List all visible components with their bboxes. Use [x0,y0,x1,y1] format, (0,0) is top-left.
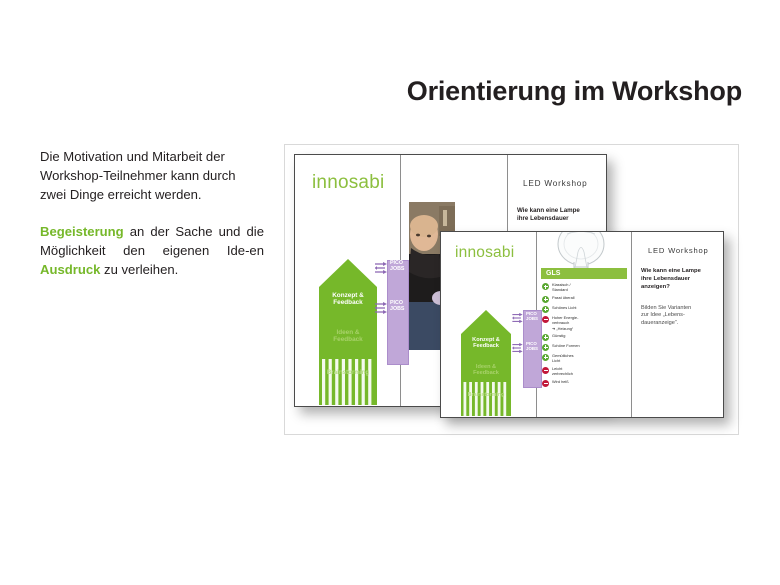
plus-icon [542,334,549,341]
minus-icon [542,316,549,323]
panel-title-front: LED Workshop [648,246,709,255]
brand-innosabi-back: innosabi [312,172,384,194]
flow-arrows-lower-back [375,301,387,315]
list-item: Leicht zerbrechlich [542,366,628,377]
slide-front-divider-2 [631,232,632,417]
list-item-label: Schönes Licht [552,305,576,310]
panel-task-front: Bilden Sie Varianten zur Idee „Lebens- d… [641,305,719,327]
intro-segment-2: zu verleihen. [100,262,178,277]
process-arrow-front: Konzept & Feedback Ideen & Feedback Brai… [461,310,511,416]
list-item: Günstig [542,333,628,341]
list-item-label: Klassisch / Standard [552,282,571,293]
list-item-label: Günstig [552,333,565,338]
plus-icon [542,354,549,361]
panel-question-front: Wie kann eine Lampe ihre Lebensdauer anz… [641,268,719,291]
pico-jobs-label-upper-front: PICO JOBS [526,312,538,321]
list-item-label: Passt überall [552,295,575,300]
list-item: Schöne Formen [542,343,628,351]
minus-icon [542,367,549,374]
intro-text-block: Die Motivation und Mitarbeit der Worksho… [40,147,264,279]
list-item: Klassisch / Standard [542,282,628,293]
page-title: Orientierung im Workshop [407,76,742,107]
slide-front[interactable]: innosabi [440,231,724,418]
gls-header: GLS [541,268,627,279]
list-item: Passt überall [542,295,628,303]
list-item-label: Gemütliches Licht [552,353,574,364]
plus-icon [542,306,549,313]
pico-jobs-label-lower-back: PICO JOBS [390,301,404,312]
pico-jobs-bar-back [387,260,409,365]
highlight-begeisterung: Begeisterung [40,224,124,239]
list-item-label: Leicht zerbrechlich [552,366,573,377]
flow-arrows-upper-front [512,312,523,324]
process-arrow-back: Konzept & Feedback Ideen & Feedback Brai… [319,259,377,405]
flow-arrows-lower-front [512,342,523,354]
intro-paragraph-1: Die Motivation und Mitarbeit der Worksho… [40,147,264,205]
list-item: Schönes Licht [542,305,628,313]
list-item: Hoher Energie- verbrauch ➜ „Heizung“ [542,315,628,331]
panel-title-back: LED Workshop [523,179,588,188]
list-item: Gemütliches Licht [542,353,628,364]
plus-icon [542,296,549,303]
highlight-ausdruck: Ausdruck [40,262,100,277]
slide-canvas: Orientierung im Workshop Die Motivation … [0,0,780,585]
plus-icon [542,283,549,290]
panel-question-back: Wie kann eine Lampe ihre Lebensdauer [517,207,603,223]
gls-bullet-list: Klassisch / Standard Passt überall Schön… [542,282,628,389]
list-item-label: Schöne Formen [552,343,580,348]
flow-arrows-upper-back [375,261,387,275]
light-bulb-icon [545,231,617,272]
list-item: Wird heiß [542,379,628,387]
plus-icon [542,344,549,351]
minus-icon [542,380,549,387]
pico-jobs-label-lower-front: PICO JOBS [526,342,538,351]
list-item-label: Wird heiß [552,379,569,384]
intro-paragraph-2: Begeisterung an der Sache und die Möglic… [40,222,264,280]
list-item-label: Hoher Energie- verbrauch ➜ „Heizung“ [552,315,578,331]
brand-innosabi-front: innosabi [455,244,514,262]
pico-jobs-label-upper-back: PICO JOBS [390,261,404,272]
